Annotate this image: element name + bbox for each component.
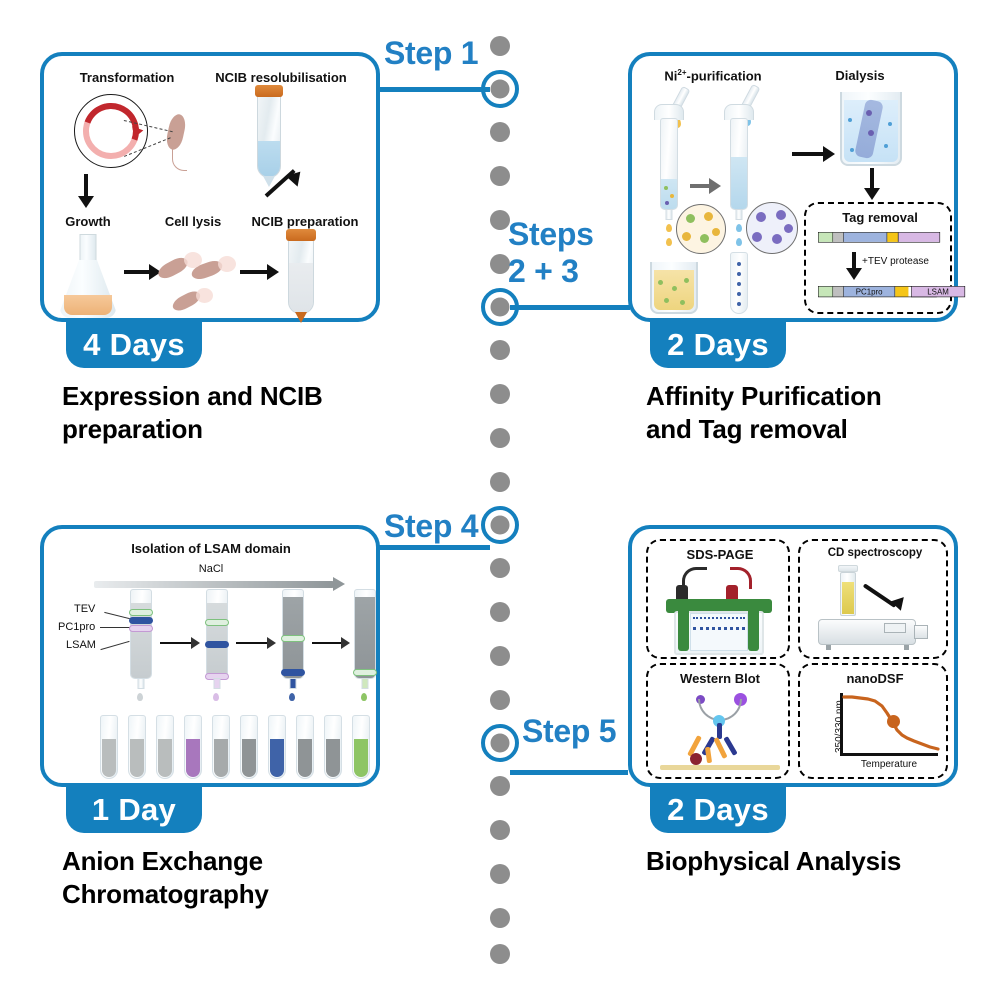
- caption-line-1: Expression and NCIB: [62, 380, 392, 413]
- lysis-halo-1: [184, 252, 202, 268]
- band-pc1pro-col2: [205, 641, 229, 648]
- sample-cuvette: [840, 572, 856, 616]
- band-pc1pro-col1: [129, 617, 153, 624]
- fraction-tube: [128, 715, 146, 779]
- anion-arrow-1: [160, 637, 202, 649]
- step-label-23-line1: Steps: [508, 216, 594, 253]
- cd-foot-right: [904, 645, 909, 650]
- duration-badge-anion: 1 Day: [66, 787, 202, 833]
- timeline-dot: [490, 36, 510, 56]
- connector-step4: [378, 545, 490, 550]
- cd-spectrometer-port: [914, 625, 928, 639]
- fraction-tube: [324, 715, 342, 779]
- timeline-dot: [490, 864, 510, 884]
- timeline-dot: [490, 776, 510, 796]
- ncib-preparation-tube: [288, 236, 314, 314]
- tag-removal-title: Tag removal: [806, 210, 954, 225]
- stage-caption-expression: Expression and NCIB preparation: [62, 380, 392, 446]
- zoom1-bead-4: [700, 234, 709, 243]
- antigen-dot: [690, 753, 702, 765]
- timeline-node-step4[interactable]: [481, 506, 519, 544]
- ni-label-tail: -purification: [687, 68, 762, 83]
- anion-column-3: [282, 589, 304, 679]
- fraction-tube: [352, 715, 370, 779]
- duration-badge-biophysical: 2 Days: [650, 787, 786, 833]
- timeline-dot: [490, 908, 510, 928]
- band-lsam-col1: [129, 625, 153, 632]
- leader-lsam: [100, 641, 129, 650]
- cleaved-product-lsam: LSAM: [911, 286, 965, 297]
- dialysis-particle-5: [884, 144, 888, 148]
- step-label-23: Steps 2 + 3: [508, 216, 594, 290]
- band-tev-col2: [205, 619, 229, 626]
- bacterium-flagellum: [172, 148, 187, 171]
- zoom2-bead-3: [752, 232, 762, 242]
- timeline-dot: [490, 210, 510, 230]
- step-label-1: Step 1: [384, 35, 478, 72]
- dialysis-particle-2: [868, 130, 874, 136]
- assay-title-western: Western Blot: [648, 671, 792, 686]
- anion-drop-3: [289, 693, 295, 701]
- timeline-dot: [490, 646, 510, 666]
- band-tev-col3: [281, 635, 305, 642]
- segment-tev-site-cleaved: [895, 287, 908, 297]
- anion-column-4: [354, 589, 376, 679]
- arrow-cd-to-instrument: [864, 577, 910, 617]
- nacl-gradient-label: NaCl: [44, 563, 378, 575]
- assay-title-nanodsf: nanoDSF: [800, 671, 950, 686]
- zoom1-bead-5: [712, 228, 720, 236]
- timeline-dot: [490, 428, 510, 448]
- timeline-dot: [490, 254, 510, 274]
- gel-bands: [693, 627, 745, 633]
- eluate-tube-bead-3: [737, 282, 741, 286]
- ncib-resolubilisation-tube: [257, 92, 281, 178]
- connector-step23: [510, 305, 630, 310]
- anion-drop-2: [213, 693, 219, 701]
- segment-his-tag: [819, 233, 834, 242]
- band-tev-col1: [129, 609, 153, 616]
- fraction-tube-row: [100, 715, 380, 779]
- duration-badge-affinity: 2 Days: [650, 322, 786, 368]
- fraction-tube: [296, 715, 314, 779]
- timeline-dot: [490, 122, 510, 142]
- stage-caption-biophysical: Biophysical Analysis: [646, 845, 986, 878]
- flowthrough-drop-2: [666, 238, 672, 246]
- stage-card-biophysical[interactable]: SDS-PAGE CD spectroscopy: [628, 525, 958, 787]
- band-label-tev: TEV: [74, 603, 95, 615]
- segment-linker: [833, 233, 844, 242]
- flowthrough-drop-1: [666, 224, 672, 232]
- segment-pc1pro-cleaved: PC1pro: [844, 287, 895, 297]
- eluate-tube-bead-2: [737, 272, 741, 276]
- culture-flask-icon: [60, 234, 116, 318]
- zoom2-bead-1: [756, 212, 766, 222]
- blot-membrane: [660, 765, 780, 770]
- tev-protease-label: +TEV protease: [862, 256, 929, 267]
- segment-pc1pro: [844, 233, 888, 242]
- band-tev-col4: [353, 669, 377, 676]
- step-label-4: Step 4: [384, 508, 478, 545]
- segment-linker-cleaved: [833, 287, 844, 297]
- assay-title-cd: CD spectroscopy: [800, 547, 950, 559]
- tag-removal-box: Tag removal +TEV protease PC1pro: [804, 202, 952, 314]
- leader-pc1pro: [100, 627, 130, 628]
- gel-wells: [693, 617, 745, 622]
- step-label-5: Step 5: [522, 713, 616, 750]
- nanodsf-tm-marker: [887, 715, 900, 728]
- anion-arrow-2: [236, 637, 278, 649]
- panel-label-ncib-preparation: NCIB preparation: [240, 214, 370, 229]
- anion-drop-1: [137, 693, 143, 701]
- eluate-drop-1: [736, 224, 742, 232]
- assay-box-western[interactable]: Western Blot: [646, 663, 790, 779]
- cd-spectrometer-panel: [884, 623, 906, 633]
- anion-column-1: [130, 589, 152, 679]
- beaker-bead-5: [680, 300, 685, 305]
- stage-card-affinity[interactable]: Ni2+-purification Dialysis: [628, 52, 958, 322]
- band-pc1pro-col3: [281, 669, 305, 676]
- lysis-halo-2: [218, 256, 236, 272]
- zoom2-bead-5: [784, 224, 793, 233]
- assay-title-sds-page: SDS-PAGE: [648, 547, 792, 562]
- stage-caption-anion: Anion Exchange Chromatography: [62, 845, 402, 911]
- panel-label-ni-purification: Ni2+-purification: [640, 68, 786, 83]
- fusion-construct: [818, 232, 940, 243]
- assay-box-cd[interactable]: CD spectroscopy: [798, 539, 948, 659]
- timeline-dot: [490, 820, 510, 840]
- lysis-halo-3: [196, 288, 213, 303]
- beaker-bead-2: [672, 286, 677, 291]
- ni-label-superscript: 2+: [677, 68, 686, 77]
- assay-box-sds-page[interactable]: SDS-PAGE: [646, 539, 790, 659]
- timeline-track: [490, 36, 512, 964]
- fraction-tube: [184, 715, 202, 779]
- gel-clamp-right: [748, 607, 759, 651]
- nacl-gradient-arrow: [94, 581, 334, 588]
- zoom2-bead-2: [776, 210, 786, 220]
- caption-line-2: and Tag removal: [646, 413, 976, 446]
- stage-card-expression[interactable]: Transformation NCIB resolubilisation Gro…: [40, 52, 380, 322]
- column1-bead-c: [665, 201, 669, 205]
- segment-tev-site: [887, 233, 898, 242]
- cuvette-cap: [838, 565, 858, 572]
- timeline-dot: [490, 340, 510, 360]
- zoom1-bead-1: [686, 214, 695, 223]
- fraction-tube: [268, 715, 286, 779]
- beaker-bead-1: [658, 280, 663, 285]
- band-label-pc1pro: PC1pro: [58, 621, 95, 633]
- anion-column-2: [206, 589, 228, 679]
- caption-line-2: Chromatography: [62, 878, 402, 911]
- timeline-dot: [490, 602, 510, 622]
- panel-label-transformation: Transformation: [62, 70, 192, 85]
- segment-his-tag-cleaved: [819, 287, 834, 297]
- timeline-dot: [490, 166, 510, 186]
- zoom2-bead-4: [772, 234, 782, 244]
- dialysis-particle-1: [866, 110, 872, 116]
- dialysis-particle-6: [850, 148, 854, 152]
- gel-clamp-left: [678, 607, 689, 651]
- eluate-tube-bead-4: [737, 292, 741, 296]
- timeline-dot: [490, 384, 510, 404]
- dialysis-particle-4: [888, 122, 892, 126]
- timeline-dot: [490, 944, 510, 964]
- arrow-growth-to-lysis: [124, 266, 160, 278]
- nanodsf-x-label: Temperature: [840, 759, 938, 770]
- anion-arrow-3: [312, 637, 352, 649]
- eluate-tube-bead-5: [737, 302, 741, 306]
- beaker-bead-4: [664, 298, 669, 303]
- connector-step1: [378, 87, 490, 92]
- leader-tev: [104, 612, 129, 619]
- workflow-figure: Step 1 Steps 2 + 3 Step 4 Step 5 Transfo…: [0, 0, 996, 996]
- panel-label-ncib-resolubilisation: NCIB resolubilisation: [196, 70, 366, 85]
- ni-column-1: [660, 118, 678, 210]
- ni-label-base: Ni: [664, 68, 677, 83]
- fraction-tube: [240, 715, 258, 779]
- caption-line-2: preparation: [62, 413, 392, 446]
- eluate-drop-2: [736, 238, 742, 246]
- duration-badge-expression: 4 Days: [66, 322, 202, 368]
- timeline-node-step5[interactable]: [481, 724, 519, 762]
- timeline-dot: [490, 558, 510, 578]
- zoom1-bead-3: [682, 232, 691, 241]
- panel-title-anion: Isolation of LSAM domain: [44, 541, 378, 556]
- band-label-lsam: LSAM: [66, 639, 96, 651]
- caption-line-1: Anion Exchange: [62, 845, 402, 878]
- bacterium-icon: [164, 113, 187, 152]
- zoom1-bead-2: [704, 212, 713, 221]
- dialysis-particle-3: [848, 118, 852, 122]
- arrow-between-columns: [690, 180, 720, 192]
- step-label-23-line2: 2 + 3: [508, 253, 594, 290]
- column1-bead-a: [664, 186, 668, 190]
- anion-drop-4: [361, 693, 367, 701]
- fraction-tube: [156, 715, 174, 779]
- connector-step5: [510, 770, 628, 775]
- ni-column-2: [730, 118, 748, 210]
- panel-label-dialysis: Dialysis: [814, 68, 906, 83]
- caption-line-1: Biophysical Analysis: [646, 845, 986, 878]
- panel-label-growth: Growth: [52, 214, 124, 229]
- stage-caption-affinity: Affinity Purification and Tag removal: [646, 380, 976, 446]
- panel-label-cell-lysis: Cell lysis: [152, 214, 234, 229]
- assay-box-nanodsf[interactable]: nanoDSF 350/330 nm Temperature: [798, 663, 948, 779]
- timeline-dot: [490, 690, 510, 710]
- cd-foot-left: [826, 645, 831, 650]
- arrow-to-dialysis: [792, 148, 836, 160]
- fraction-tube: [100, 715, 118, 779]
- stage-card-anion[interactable]: Isolation of LSAM domain NaCl TEV PC1pro…: [40, 525, 380, 787]
- beaker-bead-3: [684, 278, 689, 283]
- segment-lsam: [899, 233, 940, 242]
- eluate-tube-bead-1: [737, 262, 741, 266]
- segment-lsam-cleaved: LSAM: [912, 287, 965, 297]
- caption-line-1: Affinity Purification: [646, 380, 976, 413]
- fraction-tube: [212, 715, 230, 779]
- column1-bead-b: [670, 194, 674, 198]
- timeline-dot: [490, 472, 510, 492]
- arrow-lysis-to-ncib: [240, 266, 278, 278]
